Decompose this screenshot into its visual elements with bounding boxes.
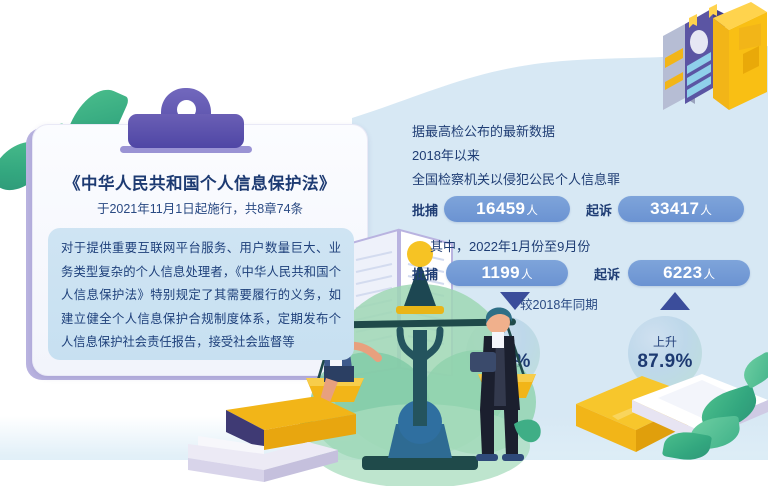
arrest-total-unit: 人 bbox=[526, 202, 538, 218]
prosecute-period-unit: 人 bbox=[703, 266, 715, 282]
prosecute-label: 起诉 bbox=[586, 200, 612, 219]
arrest-period-label: 批捕 bbox=[412, 264, 438, 283]
statistics-panel: 据最高检公布的最新数据 2018年以来 全国检察机关以侵犯公民个人信息罪 批捕 … bbox=[412, 120, 760, 314]
period-row: 批捕 1199 人 起诉 6223 人 bbox=[412, 260, 760, 286]
prosecute-period-label: 起诉 bbox=[594, 264, 620, 283]
arrest-period-unit: 人 bbox=[521, 266, 533, 282]
clip-body bbox=[128, 114, 244, 148]
arrest-period-pill: 1199 人 bbox=[446, 260, 568, 286]
prosecute-total-pill: 33417 人 bbox=[618, 196, 744, 222]
up-triangle-icon bbox=[660, 292, 690, 310]
stat-scope-line: 全国检察机关以侵犯公民个人信息罪 bbox=[412, 168, 760, 192]
isometric-books-illustration bbox=[655, 2, 767, 122]
card-title: 《中华人民共和国个人信息保护法》 bbox=[32, 170, 368, 194]
stat-source-line: 据最高检公布的最新数据 bbox=[412, 120, 760, 144]
stacked-books-illustration bbox=[168, 392, 358, 486]
arrest-total-pill: 16459 人 bbox=[444, 196, 570, 222]
totals-row: 批捕 16459 人 起诉 33417 人 bbox=[412, 196, 760, 222]
card-body-box: 对于提供重要互联网平台服务、用户数量巨大、业务类型复杂的个人信息处理者，《中华人… bbox=[48, 228, 354, 360]
card-subtitle: 于2021年11月1日起施行，共8章74条 bbox=[32, 198, 368, 217]
comparison-label: 较2018年同期 bbox=[520, 294, 598, 313]
prosecute-period-pill: 6223 人 bbox=[628, 260, 750, 286]
comparison-row: 较2018年同期 bbox=[412, 292, 760, 314]
prosecute-total-unit: 人 bbox=[700, 202, 712, 218]
card-body-text: 对于提供重要互联网平台服务、用户数量巨大、业务类型复杂的个人信息处理者，《中华人… bbox=[61, 237, 341, 355]
infographic-canvas: 《中华人民共和国个人信息保护法》 于2021年11月1日起施行，共8章74条 对… bbox=[0, 0, 768, 486]
arrest-total-value: 16459 bbox=[476, 199, 525, 219]
prosecute-period-value: 6223 bbox=[663, 263, 702, 283]
stat-period-line: 其中，2022年1月份至9月份 bbox=[412, 236, 760, 255]
clipboard-clip-icon bbox=[128, 88, 244, 148]
arrest-label: 批捕 bbox=[412, 200, 438, 219]
stat-since-line: 2018年以来 bbox=[412, 144, 760, 168]
arrest-period-value: 1199 bbox=[482, 263, 520, 283]
up-caption: 上升 bbox=[653, 333, 677, 350]
prosecute-total-value: 33417 bbox=[650, 199, 699, 219]
